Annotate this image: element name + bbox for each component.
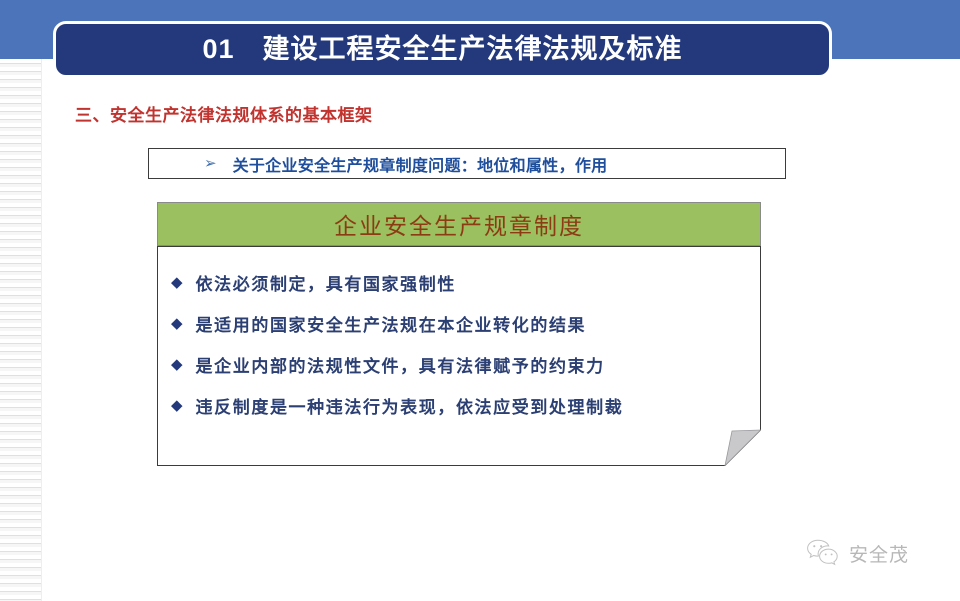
list-item: ◆ 依法必须制定，具有国家强制性: [157, 262, 761, 303]
list-item: ◆ 是企业内部的法规性文件，具有法律赋予的约束力: [157, 344, 761, 385]
slide-title-plaque: 01 建设工程安全生产法律法规及标准: [53, 21, 832, 78]
list-item-label: 依法必须制定，具有国家强制性: [196, 270, 456, 295]
decorative-arc-icon: [822, 8, 942, 59]
diamond-bullet-icon: ◆: [171, 357, 183, 372]
question-bar-label: 关于企业安全生产规章制度问题：地位和属性，作用: [233, 152, 608, 176]
left-stripe-decoration: [0, 59, 41, 601]
diamond-bullet-icon: ◆: [171, 316, 183, 331]
diamond-bullet-icon: ◆: [171, 275, 183, 290]
content-card: 企业安全生产规章制度 ◆ 依法必须制定，具有国家强制性 ◆ 是适用的国家安全生产…: [157, 202, 761, 466]
list-item-label: 违反制度是一种违法行为表现，依法应受到处理制裁: [196, 393, 624, 418]
section-heading: 三、安全生产法律法规体系的基本框架: [75, 101, 373, 126]
list-item: ◆ 违反制度是一种违法行为表现，依法应受到处理制裁: [157, 385, 761, 426]
list-item-label: 是适用的国家安全生产法规在本企业转化的结果: [196, 311, 587, 336]
card-header: 企业安全生产规章制度: [157, 202, 761, 246]
list-item-label: 是企业内部的法规性文件，具有法律赋予的约束力: [196, 352, 605, 377]
page-title: 01 建设工程安全生产法律法规及标准: [202, 36, 682, 63]
watermark-label: 安全茂: [849, 540, 909, 567]
slide-canvas: 01 建设工程安全生产法律法规及标准 三、安全生产法律法规体系的基本框架 ➢ 关…: [0, 0, 960, 601]
left-stripe-edge: [41, 59, 42, 601]
wechat-icon: [806, 538, 840, 568]
list-item: ◆ 是适用的国家安全生产法规在本企业转化的结果: [157, 303, 761, 344]
question-bar: ➢ 关于企业安全生产规章制度问题：地位和属性，作用: [148, 148, 786, 179]
arrow-bullet-icon: ➢: [204, 156, 217, 171]
card-header-title: 企业安全生产规章制度: [334, 207, 584, 241]
watermark: 安全茂: [806, 538, 909, 568]
bullet-list: ◆ 依法必须制定，具有国家强制性 ◆ 是适用的国家安全生产法规在本企业转化的结果…: [157, 246, 761, 466]
diamond-bullet-icon: ◆: [171, 398, 183, 413]
card-body: ◆ 依法必须制定，具有国家强制性 ◆ 是适用的国家安全生产法规在本企业转化的结果…: [157, 246, 761, 466]
